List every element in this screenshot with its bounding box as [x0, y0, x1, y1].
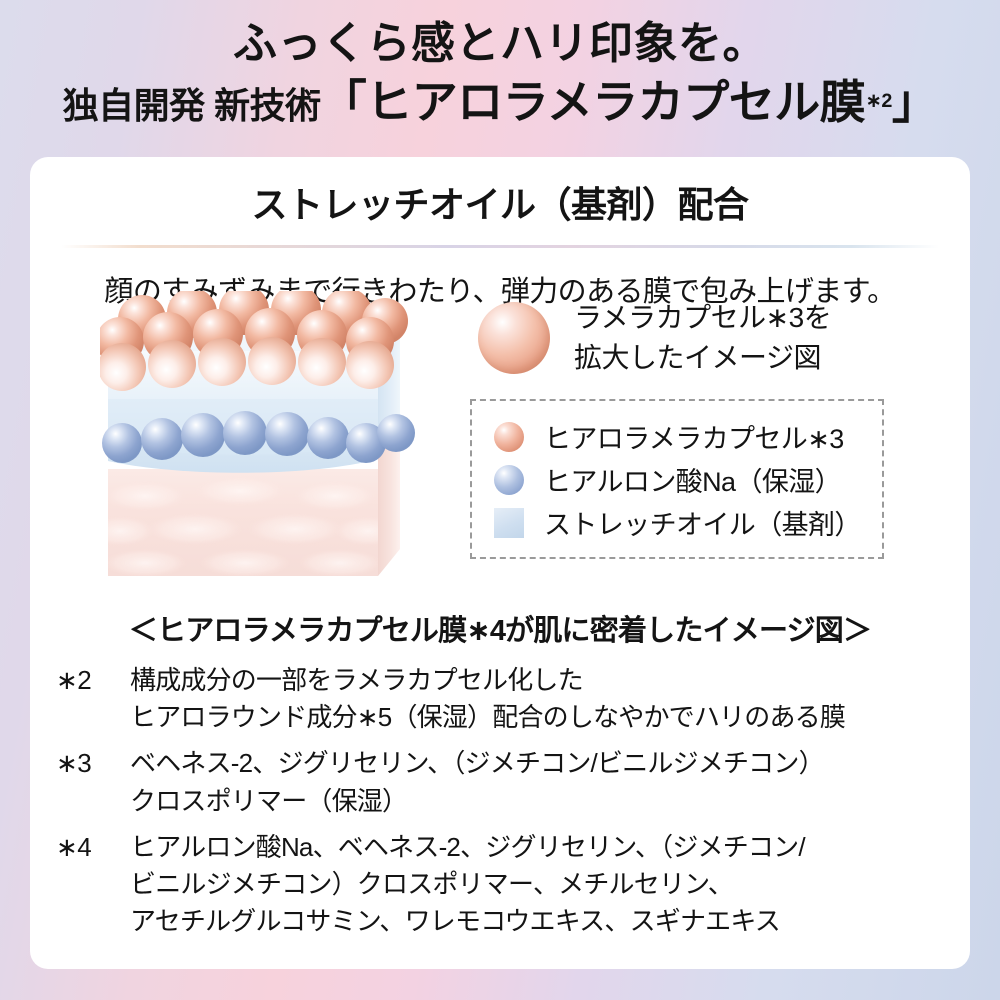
footnote-4-line-3: アセチルグルコサミン、ワレモコウエキス、スギナエキス: [130, 903, 805, 940]
figure-caption: ＜ヒアロラメラカプセル膜∗4が肌に密着したイメージ図＞: [30, 607, 970, 649]
footnote-4-marker: ∗4: [56, 829, 130, 866]
footnote-3-body: ベヘネス-2、ジグリセリン、（ジメチコン/ビニルジメチコン） クロスポリマー（保…: [130, 745, 824, 819]
footnote-3-marker: ∗3: [56, 745, 130, 782]
footnote-4-line-2: ビニルジメチコン）クロスポリマー、メチルセリン、: [130, 866, 805, 903]
footnote-4-body: ヒアルロン酸Na、ベヘネス-2、ジグリセリン、（ジメチコン/ ビニルジメチコン）…: [130, 829, 805, 941]
title-quote-open: 「: [321, 74, 367, 130]
legend-item-capsule: ヒアロラメラカプセル∗3: [494, 415, 882, 458]
page-title-line-1: ふっくら感とハリ印象を。: [233, 16, 767, 72]
footnotes-list: ∗2 構成成分の一部をラメラカプセル化した ヒアロラウンド成分∗5（保湿）配合の…: [56, 662, 956, 949]
header: ふっくら感とハリ印象を。 独自開発 新技術 「 ヒアロラメラカプセル膜 ∗2 」: [0, 0, 1000, 157]
footnote-4: ∗4 ヒアルロン酸Na、ベヘネス-2、ジグリセリン、（ジメチコン/ ビニルジメチ…: [56, 829, 956, 941]
footnote-2: ∗2 構成成分の一部をラメラカプセル化した ヒアロラウンド成分∗5（保湿）配合の…: [56, 662, 956, 736]
legend-label-hyaluronic: ヒアルロン酸Na（保湿）: [544, 460, 841, 499]
card-subheader: ストレッチオイル（基剤）配合: [30, 157, 970, 228]
figure-caption-body: ＜ヒアロラメラカプセル膜∗4が肌に密着したイメージ図＞: [129, 615, 871, 647]
legend-label-capsule: ヒアロラメラカプセル∗3: [544, 417, 844, 456]
title-main: ヒアロラメラカプセル膜: [366, 74, 865, 130]
content-card: ストレッチオイル（基剤）配合 顔のすみずみまで行きわたり、弾力のある膜で包み上げ…: [30, 157, 970, 969]
footnote-3-line-2: クロスポリマー（保湿）: [130, 783, 824, 820]
legend-item-hyaluronic: ヒアルロン酸Na（保湿）: [494, 458, 882, 501]
pearl-callout-text: ラメラカプセル∗3を 拡大したイメージ図: [574, 298, 831, 378]
page-title-line-2: 独自開発 新技術 「 ヒアロラメラカプセル膜 ∗2 」: [63, 74, 938, 130]
title-quote-close: 」: [892, 74, 938, 130]
skin-block-svg: [100, 291, 420, 591]
footnote-2-body: 構成成分の一部をラメラカプセル化した ヒアロラウンド成分∗5（保湿）配合のしなや…: [130, 662, 845, 736]
legend-box: ヒアロラメラカプセル∗3 ヒアルロン酸Na（保湿） ストレッチオイル（基剤）: [470, 399, 884, 559]
title-footnote-marker: ∗2: [865, 89, 892, 113]
figure-row: ラメラカプセル∗3を 拡大したイメージ図 ヒアロラメラカプセル∗3 ヒアルロン酸…: [30, 291, 970, 601]
legend-label-oil: ストレッチオイル（基剤）: [544, 503, 861, 542]
blue-sphere-icon: [494, 465, 524, 495]
footnote-2-line-1: 構成成分の一部をラメラカプセル化した: [130, 662, 845, 699]
footnote-4-line-1: ヒアルロン酸Na、ベヘネス-2、ジグリセリン、（ジメチコン/: [130, 829, 805, 866]
legend-item-oil: ストレッチオイル（基剤）: [494, 501, 882, 544]
oil-square-icon: [494, 508, 524, 538]
infographic-page: ふっくら感とハリ印象を。 独自開発 新技術 「 ヒアロラメラカプセル膜 ∗2 」…: [0, 0, 1000, 1000]
pearl-callout-line-1: ラメラカプセル∗3を: [574, 298, 831, 338]
footnote-2-line-2: ヒアロラウンド成分∗5（保湿）配合のしなやかでハリのある膜: [130, 699, 845, 736]
title-prefix: 独自開発 新技術: [63, 84, 321, 128]
pearl-callout: ラメラカプセル∗3を 拡大したイメージ図: [478, 298, 831, 378]
pearl-callout-line-2: 拡大したイメージ図: [574, 338, 831, 378]
footnote-3-line-1: ベヘネス-2、ジグリセリン、（ジメチコン/ビニルジメチコン）: [130, 745, 824, 782]
footnote-3: ∗3 ベヘネス-2、ジグリセリン、（ジメチコン/ビニルジメチコン） クロスポリマ…: [56, 745, 956, 819]
footnote-2-marker: ∗2: [56, 662, 130, 699]
figure-caption-text: ＜ヒアロラメラカプセル膜∗4が肌に密着したイメージ図＞: [129, 615, 871, 647]
lamellar-capsule-pearl-icon: [478, 302, 550, 374]
skin-cross-section-diagram: [100, 291, 420, 591]
coral-sphere-icon: [494, 422, 524, 452]
